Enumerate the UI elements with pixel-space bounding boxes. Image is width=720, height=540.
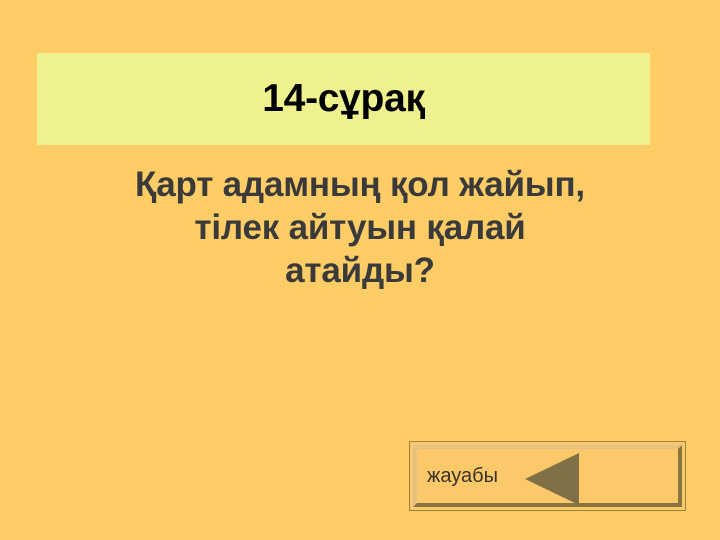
question-line: тілек айтуын қалай [60,206,660,249]
slide-canvas: 14-сұрақ Қарт адамның қол жайып, тілек а… [0,0,720,540]
question-line: атайды? [60,249,660,292]
triangle-left-icon [523,452,581,506]
title-banner: 14-сұрақ [37,53,650,145]
answer-button-label: жауабы [427,465,498,488]
question-line: Қарт адамның қол жайып, [60,163,660,206]
answer-button[interactable]: жауабы [409,441,686,511]
answer-button-face: жауабы [413,445,682,507]
question-text-block: Қарт адамның қол жайып, тілек айтуын қал… [60,163,660,292]
page-title: 14-сұрақ [262,79,424,120]
